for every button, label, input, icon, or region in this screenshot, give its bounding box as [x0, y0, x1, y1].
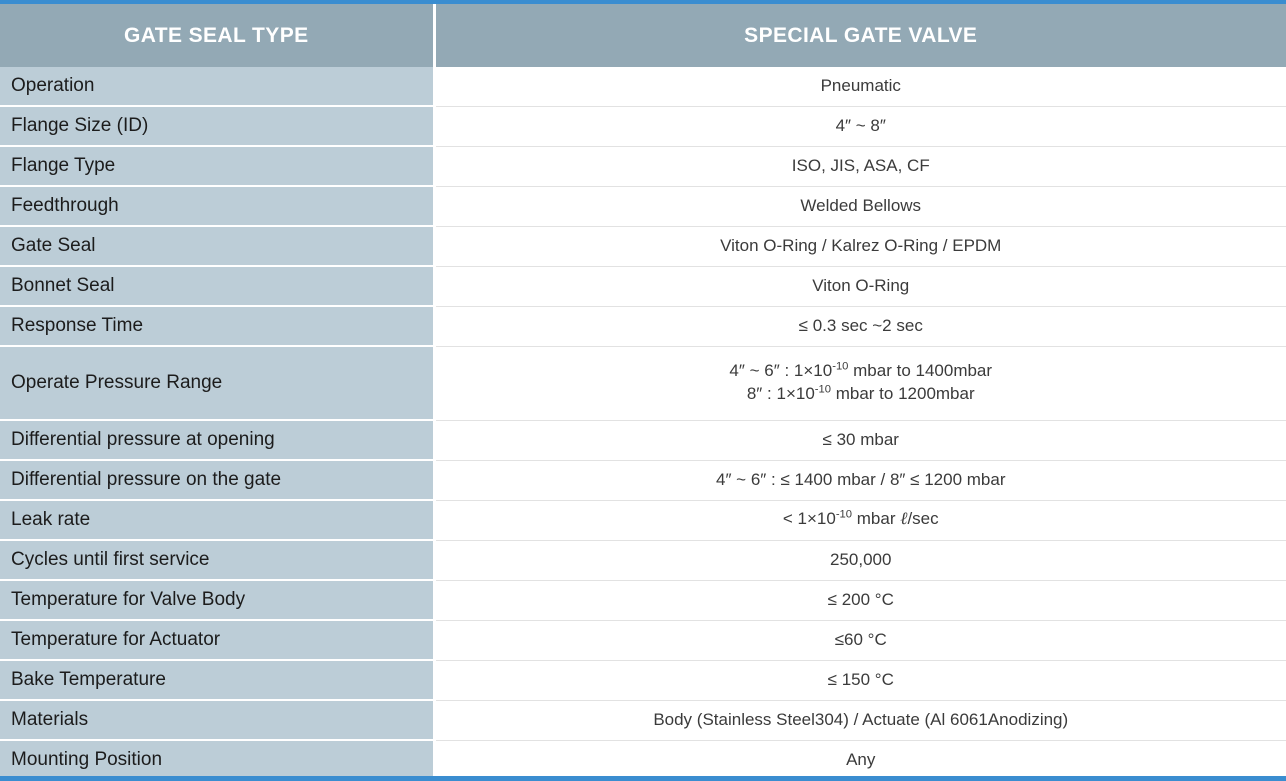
row-value-differential-pressure-at-opening: ≤ 30 mbar	[434, 420, 1286, 460]
table-row: Flange Type ISO, JIS, ASA, CF	[0, 146, 1286, 186]
table-row: Materials Body (Stainless Steel304) / Ac…	[0, 700, 1286, 740]
table-row: Operation Pneumatic	[0, 67, 1286, 106]
row-value-cycles-until-first-service: 250,000	[434, 540, 1286, 580]
specification-table-container: GATE SEAL TYPE SPECIAL GATE VALVE Operat…	[0, 0, 1286, 781]
operate-pressure-line-1-suffix: mbar to 1400mbar	[848, 361, 992, 380]
operate-pressure-line-2-suffix: mbar to 1200mbar	[831, 384, 975, 403]
row-label-operation: Operation	[0, 67, 434, 106]
table-row: Temperature for Actuator ≤60 °C	[0, 620, 1286, 660]
row-value-temperature-for-actuator: ≤60 °C	[434, 620, 1286, 660]
row-value-operate-pressure-range: 4″ ~ 6″ : 1×10-10 mbar to 1400mbar 8″ : …	[434, 346, 1286, 420]
operate-pressure-line-1-prefix: 4″ ~ 6″ : 1×10	[729, 361, 832, 380]
row-label-feedthrough: Feedthrough	[0, 186, 434, 226]
table-row: Differential pressure at opening ≤ 30 mb…	[0, 420, 1286, 460]
row-value-flange-size: 4″ ~ 8″	[434, 106, 1286, 146]
row-label-bake-temperature: Bake Temperature	[0, 660, 434, 700]
row-value-operation: Pneumatic	[434, 67, 1286, 106]
row-value-feedthrough: Welded Bellows	[434, 186, 1286, 226]
table-row: Temperature for Valve Body ≤ 200 °C	[0, 580, 1286, 620]
row-label-temperature-for-actuator: Temperature for Actuator	[0, 620, 434, 660]
table-row: Bonnet Seal Viton O-Ring	[0, 266, 1286, 306]
table-header: GATE SEAL TYPE SPECIAL GATE VALVE	[0, 4, 1286, 67]
row-label-mounting-position: Mounting Position	[0, 740, 434, 780]
row-value-response-time: ≤ 0.3 sec ~2 sec	[434, 306, 1286, 346]
operate-pressure-line-1-exponent: -10	[832, 360, 848, 372]
row-value-mounting-position: Any	[434, 740, 1286, 780]
leak-rate-exponent: -10	[836, 509, 852, 521]
column-header-special-gate-valve: SPECIAL GATE VALVE	[434, 4, 1286, 67]
row-label-leak-rate: Leak rate	[0, 500, 434, 540]
row-label-flange-type: Flange Type	[0, 146, 434, 186]
row-value-flange-type: ISO, JIS, ASA, CF	[434, 146, 1286, 186]
operate-pressure-line-2-exponent: -10	[815, 383, 831, 395]
row-label-bonnet-seal: Bonnet Seal	[0, 266, 434, 306]
leak-rate-prefix: < 1×10	[783, 509, 836, 528]
row-value-temperature-for-valve-body: ≤ 200 °C	[434, 580, 1286, 620]
row-label-cycles-until-first-service: Cycles until first service	[0, 540, 434, 580]
table-row: Leak rate < 1×10-10 mbar ℓ/sec	[0, 500, 1286, 540]
row-value-materials: Body (Stainless Steel304) / Actuate (Al …	[434, 700, 1286, 740]
row-value-bake-temperature: ≤ 150 °C	[434, 660, 1286, 700]
table-row: Flange Size (ID) 4″ ~ 8″	[0, 106, 1286, 146]
table-row: Bake Temperature ≤ 150 °C	[0, 660, 1286, 700]
row-value-differential-pressure-on-the-gate: 4″ ~ 6″ : ≤ 1400 mbar / 8″ ≤ 1200 mbar	[434, 460, 1286, 500]
row-label-gate-seal: Gate Seal	[0, 226, 434, 266]
operate-pressure-line-2-prefix: 8″ : 1×10	[747, 384, 815, 403]
row-value-bonnet-seal: Viton O-Ring	[434, 266, 1286, 306]
row-value-gate-seal: Viton O-Ring / Kalrez O-Ring / EPDM	[434, 226, 1286, 266]
table-body: Operation Pneumatic Flange Size (ID) 4″ …	[0, 67, 1286, 781]
row-value-leak-rate: < 1×10-10 mbar ℓ/sec	[434, 500, 1286, 540]
column-header-gate-seal-type: GATE SEAL TYPE	[0, 4, 434, 67]
table-row: Operate Pressure Range 4″ ~ 6″ : 1×10-10…	[0, 346, 1286, 420]
row-label-response-time: Response Time	[0, 306, 434, 346]
leak-rate-suffix: mbar ℓ/sec	[852, 509, 939, 528]
table-row: Cycles until first service 250,000	[0, 540, 1286, 580]
table-row: Feedthrough Welded Bellows	[0, 186, 1286, 226]
operate-pressure-line-2: 8″ : 1×10-10 mbar to 1200mbar	[446, 383, 1277, 406]
row-label-differential-pressure-at-opening: Differential pressure at opening	[0, 420, 434, 460]
table-row: Gate Seal Viton O-Ring / Kalrez O-Ring /…	[0, 226, 1286, 266]
operate-pressure-line-1: 4″ ~ 6″ : 1×10-10 mbar to 1400mbar	[446, 360, 1277, 383]
row-label-materials: Materials	[0, 700, 434, 740]
table-header-row: GATE SEAL TYPE SPECIAL GATE VALVE	[0, 4, 1286, 67]
table-row: Response Time ≤ 0.3 sec ~2 sec	[0, 306, 1286, 346]
row-label-flange-size: Flange Size (ID)	[0, 106, 434, 146]
table-row: Differential pressure on the gate 4″ ~ 6…	[0, 460, 1286, 500]
row-label-temperature-for-valve-body: Temperature for Valve Body	[0, 580, 434, 620]
gate-valve-specification-table: GATE SEAL TYPE SPECIAL GATE VALVE Operat…	[0, 4, 1286, 781]
table-row: Mounting Position Any	[0, 740, 1286, 780]
row-label-operate-pressure-range: Operate Pressure Range	[0, 346, 434, 420]
row-label-differential-pressure-on-the-gate: Differential pressure on the gate	[0, 460, 434, 500]
